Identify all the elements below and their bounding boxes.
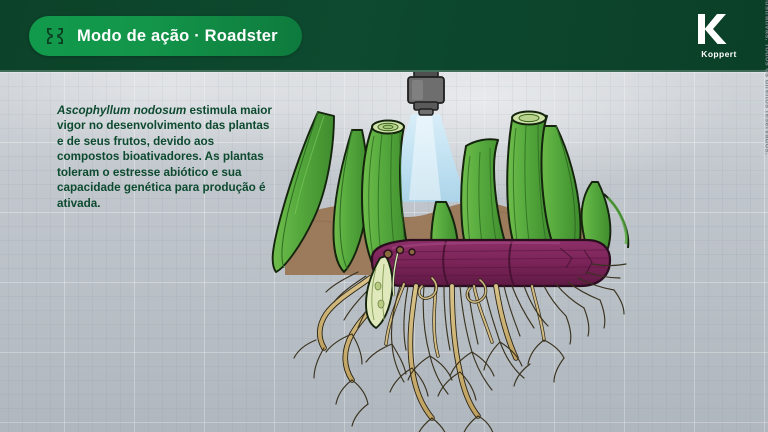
koppert-logo[interactable]: Koppert (690, 12, 748, 59)
mode-of-action-label: Modo de ação · Roadster (77, 28, 278, 45)
rhizome-stalk (372, 240, 610, 286)
koppert-k-icon (690, 12, 730, 46)
description-text: Ascophyllum nodosum estimula maior vigor… (57, 103, 273, 211)
header-bar: Modo de ação · Roadster Koppert (0, 0, 768, 72)
koppert-wordmark: Koppert (690, 49, 748, 59)
cycle-arrows-icon (44, 25, 66, 47)
spray-nozzle (408, 72, 444, 115)
root-system (294, 264, 626, 432)
mode-of-action-pill[interactable]: Modo de ação · Roadster (29, 16, 302, 56)
species-name: Ascophyllum nodosum (57, 104, 186, 117)
copyright-note: Imagens ilustrativas. Todos os direitos … (764, 0, 768, 155)
screenshot-canvas: Modo de ação · Roadster Koppert Ascophyl… (0, 0, 768, 432)
description-rest: estimula maior vigor no desenvolvimento … (57, 104, 272, 210)
